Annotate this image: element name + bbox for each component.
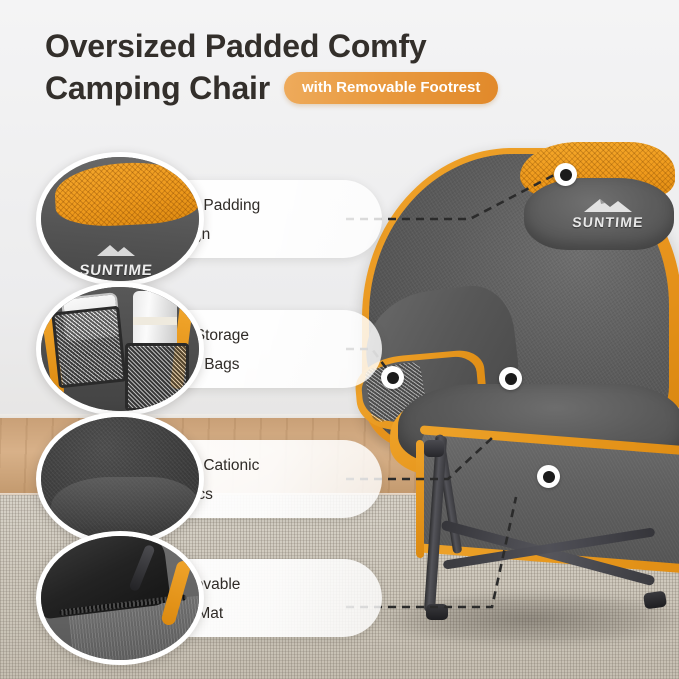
headline-line-1: Oversized Padded Comfy	[45, 26, 645, 68]
thumb-cushion-fold	[51, 477, 199, 535]
feature-thumbnail-foot-mat	[36, 531, 204, 665]
headline-block: Oversized Padded Comfy Camping Chair wit…	[45, 26, 645, 109]
thumb-brand-name: SUNTIME	[60, 262, 172, 279]
marker-dot-mesh-bags	[381, 366, 404, 389]
thumb-bottle-band	[133, 317, 177, 325]
feature-thumbnail-fabrics	[36, 412, 204, 546]
product-infographic: SUNTIME	[0, 0, 679, 679]
marker-dot-foot-mat	[537, 465, 560, 488]
thumb-orange-mesh-pillow	[53, 159, 202, 229]
thumb-suntime-logo: SUNTIME	[61, 243, 171, 279]
headline-row-2: Camping Chair with Removable Footrest	[45, 68, 645, 110]
headline-line-2: Camping Chair	[45, 68, 270, 110]
marker-dot-fabrics	[499, 367, 522, 390]
feature-thumbnail-mesh-bags	[36, 282, 204, 416]
feature-thumbnail-head-padding: SUNTIME	[36, 152, 204, 286]
mountain-peak-icon	[94, 243, 138, 257]
footrest-badge: with Removable Footrest	[284, 72, 498, 104]
thumb-mesh-pocket-left	[51, 306, 127, 389]
marker-dot-head-padding	[554, 163, 577, 186]
thumb-mesh-pocket-right	[125, 343, 189, 411]
